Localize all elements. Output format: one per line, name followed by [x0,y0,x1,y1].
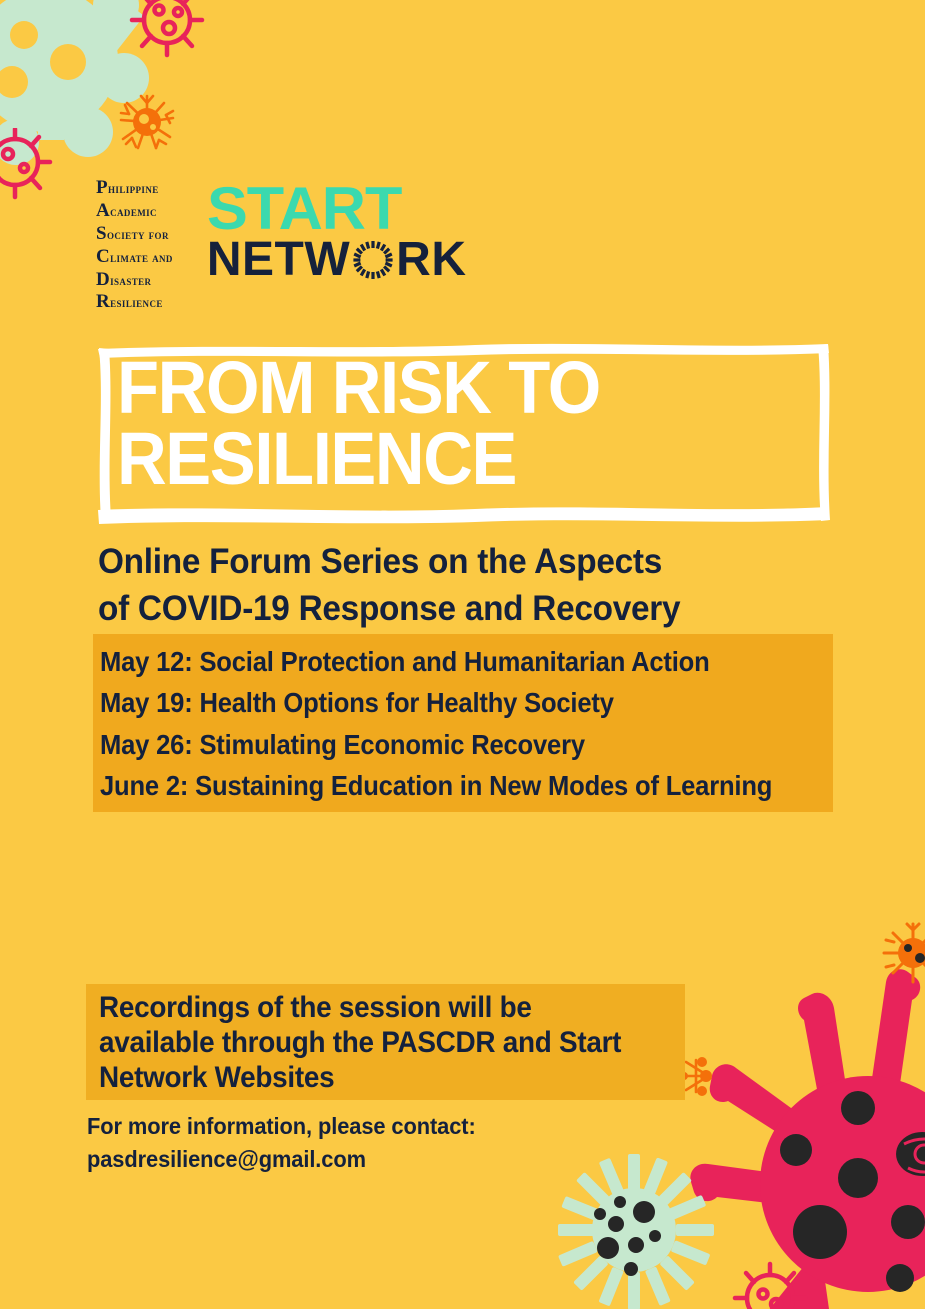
network-text-pre: NETW [207,236,350,283]
virus-pink-outline-bottom-icon [730,1258,810,1309]
start-network-logo: START NETW [207,184,467,283]
headline-block: FROM RISK TO RESILIENCE [95,340,832,526]
pascdr-initial: P [96,177,108,198]
network-wordmark: NETW [207,236,467,283]
pascdr-logo: Philippine Academic Society for Climate … [96,178,173,315]
start-wordmark: START [207,184,472,234]
virus-pink-outline-left-icon [0,128,56,204]
pascdr-word: ociety for [107,227,169,242]
poster-canvas: Philippine Academic Society for Climate … [0,0,925,1309]
session-item: May 19: Health Options for Healthy Socie… [100,682,835,723]
session-item: June 2: Sustaining Education in New Mode… [100,765,835,806]
pascdr-initial: R [96,291,110,312]
sunburst-circle-icon [351,238,395,282]
session-item: May 26: Stimulating Economic Recovery [100,724,835,765]
pascdr-initial: S [96,223,107,244]
pascdr-line: Climate and [96,247,173,266]
pascdr-line: Disaster [96,270,173,289]
virus-pink-outline-topleft-icon [126,0,208,62]
pascdr-line: Philippine [96,178,173,197]
virus-mint-large-topleft-icon [0,0,168,175]
contact-email[interactable]: pasdresilience@gmail.com [87,1143,619,1176]
virus-orange-small-right-icon [880,920,925,986]
logo-row: Philippine Academic Society for Climate … [96,178,466,315]
pascdr-line: Society for [96,224,173,243]
pascdr-line: Academic [96,201,173,220]
pascdr-word: isaster [110,273,151,288]
pascdr-word: hilippine [108,181,159,196]
page-title: FROM RISK TO RESILIENCE [117,352,769,494]
pascdr-initial: C [96,246,110,267]
pascdr-word: limate and [110,250,173,265]
pascdr-line: Resilience [96,292,173,311]
network-text-post: RK [396,236,466,283]
contact-prompt: For more information, please contact: [87,1110,619,1143]
virus-orange-spiky-topleft-icon [118,93,176,151]
pascdr-initial: A [96,200,110,221]
session-item: May 12: Social Protection and Humanitari… [100,641,835,682]
contact-block: For more information, please contact: pa… [87,1110,647,1177]
sessions-list: May 12: Social Protection and Humanitari… [100,641,890,806]
pascdr-initial: D [96,269,110,290]
recordings-note: Recordings of the session will be availa… [99,991,694,1095]
pascdr-word: esilience [110,295,163,310]
subtitle: Online Forum Series on the Aspects of CO… [98,538,812,632]
pascdr-word: cademic [110,204,157,219]
virus-crimson-large-bottomright-icon [672,916,925,1309]
